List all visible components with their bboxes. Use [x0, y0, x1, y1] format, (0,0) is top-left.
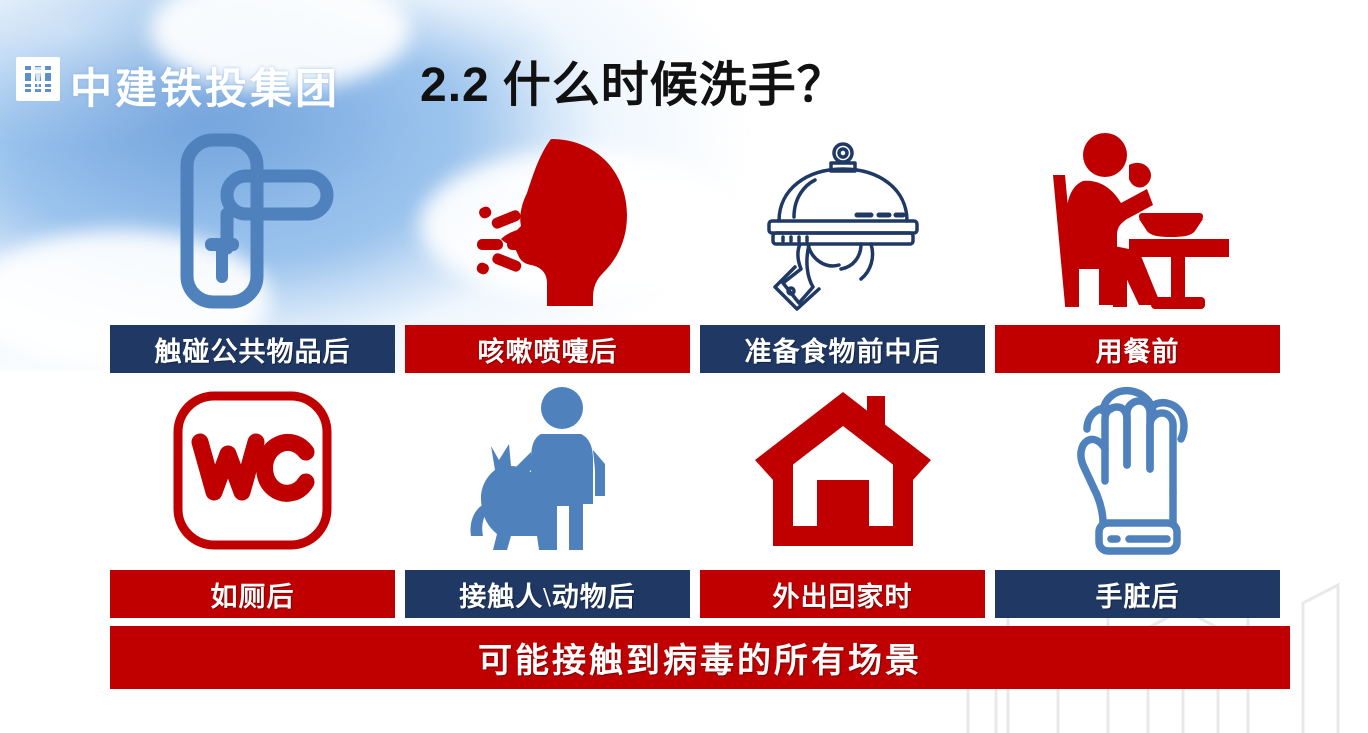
label-row-2: 如厕后 接触人\动物后 外出回家时 手脏后: [110, 570, 1290, 618]
person-eating-icon: [1043, 131, 1233, 311]
company-logo-mark: [16, 57, 60, 101]
scenario-label-return-home[interactable]: 外出回家时: [700, 570, 985, 618]
scenario-label-prepare-food[interactable]: 准备食物前中后: [700, 325, 985, 373]
icon-cell-house: [700, 373, 985, 568]
scenario-label-dirty-hands[interactable]: 手脏后: [995, 570, 1280, 618]
icon-cell-food-cloche: [700, 118, 985, 323]
icon-row-1: [110, 118, 1290, 323]
icon-cell-wc-sign: [110, 373, 395, 568]
summary-banner: 可能接触到病毒的所有场景: [110, 626, 1290, 689]
label-row-1: 触碰公共物品后 咳嗽喷嚏后 准备食物前中后 用餐前: [110, 325, 1290, 373]
scenario-label-after-toilet[interactable]: 如厕后: [110, 570, 395, 618]
page-title-number: 2.2: [420, 59, 490, 112]
page-title-text: 什么时候洗手？: [503, 59, 846, 112]
person-with-dog-icon: [463, 386, 633, 556]
food-cloche-icon: [753, 131, 933, 311]
company-logo-text: 中建铁投集团: [70, 55, 340, 116]
coughing-head-icon: [455, 131, 640, 311]
wc-sign-icon: [170, 388, 335, 553]
door-handle-icon: [165, 128, 340, 313]
icon-cell-person-with-dog: [405, 373, 690, 568]
scenario-label-touch-public-items[interactable]: 触碰公共物品后: [110, 325, 395, 373]
dirty-hand-icon: [1075, 383, 1200, 558]
slide-header: 中建铁投集团 2.2 什么时候洗手？: [0, 0, 1368, 118]
scenario-label-before-meal[interactable]: 用餐前: [995, 325, 1280, 373]
icon-cell-coughing-head: [405, 118, 690, 323]
icon-cell-door-handle: [110, 118, 395, 323]
icon-cell-dirty-hand: [995, 373, 1280, 568]
house-icon: [753, 388, 933, 553]
scenario-label-cough-sneeze[interactable]: 咳嗽喷嚏后: [405, 325, 690, 373]
scenario-grid: 触碰公共物品后 咳嗽喷嚏后 准备食物前中后 用餐前: [110, 118, 1290, 689]
scenario-label-contact-people-animals[interactable]: 接触人\动物后: [405, 570, 690, 618]
slide-canvas: 中建铁投集团 2.2 什么时候洗手？: [0, 0, 1368, 733]
icon-cell-person-eating: [995, 118, 1280, 323]
page-title: 2.2 什么时候洗手？: [420, 45, 846, 115]
logo-glyph-icon: [22, 63, 54, 95]
icon-row-2: [110, 373, 1290, 568]
